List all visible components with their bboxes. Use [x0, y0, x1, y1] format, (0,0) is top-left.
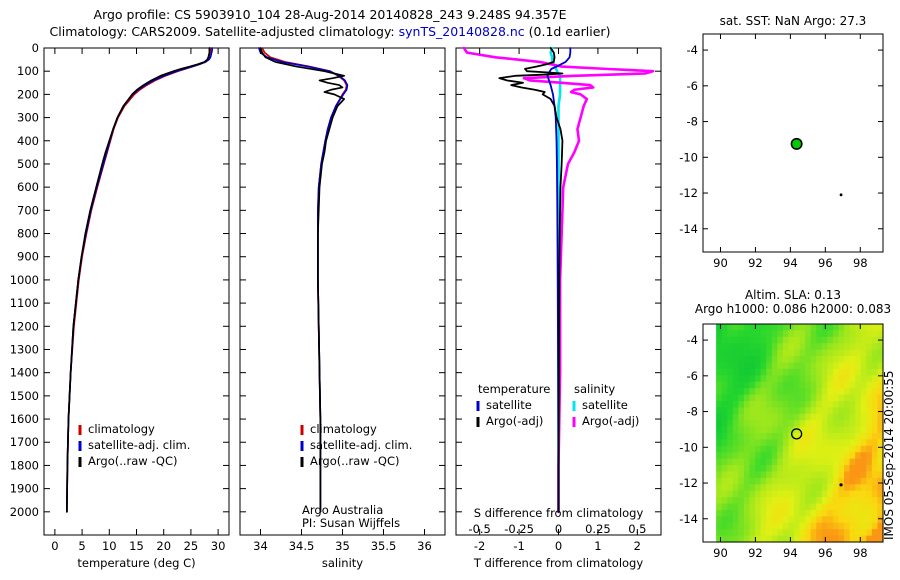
- sla-cell: [805, 478, 811, 485]
- sla-cell: [716, 330, 722, 337]
- sla-cell: [744, 375, 750, 382]
- sla-lat-tick-label: -8: [687, 405, 698, 419]
- sla-cell: [722, 324, 728, 331]
- sla-lat-tick-label: -12: [679, 476, 698, 490]
- sla-cell: [783, 362, 789, 369]
- sla-cell: [738, 337, 744, 344]
- sla-cell: [800, 497, 806, 504]
- sla-cell: [733, 478, 739, 485]
- difference-tick-label-bottom: -1: [513, 539, 524, 553]
- sla-cell: [822, 330, 828, 337]
- sla-cell: [744, 362, 750, 369]
- sla-cell: [805, 420, 811, 427]
- sla-cell: [749, 337, 755, 344]
- sla-cell: [866, 510, 872, 517]
- sla-cell: [800, 465, 806, 472]
- sla-cell: [777, 439, 783, 446]
- sla-cell: [839, 388, 845, 395]
- sla-cell: [866, 478, 872, 485]
- sla-cell: [716, 420, 722, 427]
- sla-cell: [755, 484, 761, 491]
- sla-cell: [738, 388, 744, 395]
- sla-cell: [794, 420, 800, 427]
- sla-cell: [749, 452, 755, 459]
- sla-cell: [749, 433, 755, 440]
- sla-cell: [744, 459, 750, 466]
- sla-cell: [783, 337, 789, 344]
- sla-cell: [783, 446, 789, 453]
- sla-cell: [755, 382, 761, 389]
- legend-label: satellite: [486, 398, 532, 412]
- sla-cell: [800, 350, 806, 357]
- difference-tick-label-bottom: -2: [474, 539, 485, 553]
- sla-cell: [822, 427, 828, 434]
- sla-cell: [749, 484, 755, 491]
- sla-cell: [783, 433, 789, 440]
- sla-cell: [722, 375, 728, 382]
- sla-cell: [861, 433, 867, 440]
- sla-cell: [850, 343, 856, 350]
- sla-cell: [861, 471, 867, 478]
- sla-cell: [761, 407, 767, 414]
- sla-cell: [772, 427, 778, 434]
- sla-cell: [788, 414, 794, 421]
- sla-cell: [872, 350, 878, 357]
- sla-cell: [788, 356, 794, 363]
- sla-cell: [738, 465, 744, 472]
- sla-cell: [749, 491, 755, 498]
- sla-cell: [816, 427, 822, 434]
- sla-cell: [749, 516, 755, 523]
- sla-cell: [749, 356, 755, 363]
- sla-cell: [772, 330, 778, 337]
- sla-cell: [850, 324, 856, 331]
- sla-cell: [833, 356, 839, 363]
- sla-cell: [844, 395, 850, 402]
- sla-cell: [805, 343, 811, 350]
- sla-cell: [766, 446, 772, 453]
- sla-cell: [783, 401, 789, 408]
- sla-cell: [738, 471, 744, 478]
- sla-cell: [872, 337, 878, 344]
- sla-cell: [850, 497, 856, 504]
- sla-cell: [805, 401, 811, 408]
- sla-cell: [727, 420, 733, 427]
- sla-cell: [805, 510, 811, 517]
- sla-cell: [766, 369, 772, 376]
- sla-cell: [788, 395, 794, 402]
- sla-cell: [749, 362, 755, 369]
- sla-cell: [733, 452, 739, 459]
- sla-cell: [749, 504, 755, 511]
- sla-cell: [772, 350, 778, 357]
- sla-cell: [772, 407, 778, 414]
- sla-cell: [744, 356, 750, 363]
- sla-cell: [816, 439, 822, 446]
- sla-cell: [749, 471, 755, 478]
- sla-cell: [783, 324, 789, 331]
- sla-cell: [816, 375, 822, 382]
- legend-label: climatology: [310, 422, 377, 436]
- sla-cell: [872, 510, 878, 517]
- sla-cell: [816, 350, 822, 357]
- sla-cell: [794, 395, 800, 402]
- sla-cell: [738, 395, 744, 402]
- sla-cell: [727, 465, 733, 472]
- sla-cell: [850, 388, 856, 395]
- sla-cell: [872, 504, 878, 511]
- sla-cell: [827, 337, 833, 344]
- sla-cell: [761, 337, 767, 344]
- sla-cell: [839, 427, 845, 434]
- sla-cell: [800, 446, 806, 453]
- sla-cell: [844, 516, 850, 523]
- sla-cell: [827, 478, 833, 485]
- sla-cell: [733, 356, 739, 363]
- sla-cell: [805, 439, 811, 446]
- sla-cell: [844, 369, 850, 376]
- sla-cell: [833, 395, 839, 402]
- sla-cell: [866, 356, 872, 363]
- sla-cell: [788, 478, 794, 485]
- sla-cell: [761, 369, 767, 376]
- sla-cell: [744, 446, 750, 453]
- sla-cell: [722, 529, 728, 536]
- sla-cell: [794, 382, 800, 389]
- sla-cell: [855, 427, 861, 434]
- sla-cell: [800, 395, 806, 402]
- sla-cell: [755, 401, 761, 408]
- sla-cell: [738, 516, 744, 523]
- sla-cell: [855, 395, 861, 402]
- difference-axis-label-bottom: T difference from climatology: [473, 556, 644, 570]
- depth-tick-label: 500: [17, 157, 39, 171]
- sla-cell: [839, 459, 845, 466]
- sla-cell: [727, 484, 733, 491]
- sla-cell: [766, 504, 772, 511]
- salinity-tick-label: 35: [335, 539, 350, 553]
- sla-cell: [800, 414, 806, 421]
- sla-cell: [805, 504, 811, 511]
- sla-cell: [800, 375, 806, 382]
- sla-cell: [855, 459, 861, 466]
- sla-cell: [766, 324, 772, 331]
- sla-cell: [755, 356, 761, 363]
- sla-cell: [833, 350, 839, 357]
- sla-cell: [827, 388, 833, 395]
- sla-cell: [822, 452, 828, 459]
- sla-cell: [777, 523, 783, 530]
- sla-cell: [744, 330, 750, 337]
- sla-cell: [777, 369, 783, 376]
- sla-cell: [722, 420, 728, 427]
- sla-cell: [800, 484, 806, 491]
- sla-cell: [755, 478, 761, 485]
- sla-cell: [872, 343, 878, 350]
- sla-cell: [788, 465, 794, 472]
- sla-cell: [866, 504, 872, 511]
- sla-cell: [861, 330, 867, 337]
- sla-cell: [833, 414, 839, 421]
- sla-cell: [755, 446, 761, 453]
- sla-cell: [839, 497, 845, 504]
- sla-cell: [722, 407, 728, 414]
- depth-tick-label: 300: [17, 111, 39, 125]
- panel-salinity: 3434.53535.536salinityclimatologysatelli…: [228, 40, 468, 580]
- sla-cell: [839, 350, 845, 357]
- sla-cell: [861, 484, 867, 491]
- sla-cell: [749, 497, 755, 504]
- sla-cell: [833, 375, 839, 382]
- sla-cell: [722, 356, 728, 363]
- sla-cell: [716, 337, 722, 344]
- sla-cell: [749, 439, 755, 446]
- sla-cell: [844, 407, 850, 414]
- sla-cell: [800, 491, 806, 498]
- sla-cell: [738, 504, 744, 511]
- sla-cell: [788, 484, 794, 491]
- sla-cell: [794, 459, 800, 466]
- sst-lat-tick-label: -10: [679, 150, 698, 164]
- difference-tick-label-top: 0: [555, 522, 562, 536]
- sla-cell: [822, 350, 828, 357]
- sla-cell: [827, 375, 833, 382]
- sla-cell: [783, 478, 789, 485]
- sla-cell: [839, 420, 845, 427]
- sla-cell: [811, 497, 817, 504]
- sst-map-plot: sat. SST: NaN Argo: 27.39092949698-4-6-8…: [655, 8, 900, 293]
- sla-cell: [794, 497, 800, 504]
- sla-cell: [772, 414, 778, 421]
- sla-cell: [866, 369, 872, 376]
- sla-cell: [855, 478, 861, 485]
- sla-cell: [872, 529, 878, 536]
- coastline-speck: [840, 193, 843, 196]
- sla-cell: [833, 439, 839, 446]
- sla-cell: [822, 369, 828, 376]
- sla-cell: [816, 484, 822, 491]
- sla-cell: [755, 414, 761, 421]
- sla-cell: [850, 484, 856, 491]
- sla-cell: [811, 388, 817, 395]
- sla-cell: [749, 510, 755, 517]
- sla-cell: [755, 395, 761, 402]
- sla-cell: [800, 324, 806, 331]
- sla-cell: [855, 446, 861, 453]
- sla-cell: [844, 504, 850, 511]
- sla-cell: [788, 407, 794, 414]
- sla-cell: [766, 401, 772, 408]
- sla-cell: [855, 523, 861, 530]
- sla-cell: [866, 350, 872, 357]
- sla-cell: [761, 414, 767, 421]
- sla-cell: [872, 356, 878, 363]
- sla-cell: [805, 362, 811, 369]
- sla-cell: [844, 471, 850, 478]
- sla-cell: [827, 401, 833, 408]
- sla-cell: [772, 484, 778, 491]
- sla-cell: [850, 375, 856, 382]
- sla-cell: [727, 446, 733, 453]
- sla-cell: [850, 414, 856, 421]
- sla-cell: [733, 337, 739, 344]
- sla-cell: [772, 523, 778, 530]
- sla-lat-tick-label: -14: [679, 512, 698, 526]
- sla-cell: [822, 478, 828, 485]
- sla-cell: [766, 350, 772, 357]
- sla-cell: [822, 510, 828, 517]
- sla-cell: [811, 395, 817, 402]
- sla-cell: [800, 504, 806, 511]
- sla-cell: [872, 497, 878, 504]
- sla-cell: [755, 439, 761, 446]
- sla-cell: [805, 395, 811, 402]
- sla-cell: [855, 504, 861, 511]
- sla-cell: [761, 471, 767, 478]
- sla-cell: [761, 529, 767, 536]
- sla-cell: [844, 382, 850, 389]
- difference-axis-label-top: S difference from climatology: [474, 506, 644, 520]
- sla-cell: [733, 395, 739, 402]
- sla-cell: [777, 362, 783, 369]
- sla-cell: [811, 414, 817, 421]
- sla-cell: [844, 446, 850, 453]
- sla-cell: [866, 446, 872, 453]
- sla-cell: [716, 523, 722, 530]
- sla-cell: [822, 414, 828, 421]
- sla-cell: [766, 414, 772, 421]
- sla-cell: [766, 497, 772, 504]
- sla-cell: [861, 350, 867, 357]
- sla-cell: [827, 407, 833, 414]
- sla-cell: [811, 446, 817, 453]
- sla-cell: [777, 337, 783, 344]
- sla-cell: [861, 478, 867, 485]
- sla-cell: [839, 439, 845, 446]
- sla-cell: [844, 491, 850, 498]
- sla-cell: [866, 529, 872, 536]
- sla-cell: [822, 523, 828, 530]
- salinity-tick-label: 34: [253, 539, 268, 553]
- sla-cell: [850, 504, 856, 511]
- sla-cell: [716, 350, 722, 357]
- legend-header-temperature: temperature: [478, 382, 550, 396]
- sla-cell: [861, 427, 867, 434]
- depth-tick-label: 2000: [10, 505, 39, 519]
- sla-cell: [772, 465, 778, 472]
- sla-cell: [794, 362, 800, 369]
- sla-cell: [749, 375, 755, 382]
- sla-cell: [816, 465, 822, 472]
- sla-cell: [872, 478, 878, 485]
- sla-cell: [755, 324, 761, 331]
- sla-cell: [844, 452, 850, 459]
- sla-cell: [850, 439, 856, 446]
- sla-cell: [755, 343, 761, 350]
- sla-cell: [738, 529, 744, 536]
- sla-cell: [722, 395, 728, 402]
- sla-cell: [727, 356, 733, 363]
- sla-cell: [766, 478, 772, 485]
- sla-cell: [866, 459, 872, 466]
- sla-cell: [855, 343, 861, 350]
- sla-cell: [866, 497, 872, 504]
- sla-cell: [827, 523, 833, 530]
- sla-cell: [800, 478, 806, 485]
- sla-cell: [833, 369, 839, 376]
- sla-cell: [822, 395, 828, 402]
- sla-cell: [716, 484, 722, 491]
- sla-cell: [844, 414, 850, 421]
- sla-cell: [722, 350, 728, 357]
- sla-cell: [800, 388, 806, 395]
- sla-cell: [727, 330, 733, 337]
- sla-cell: [761, 484, 767, 491]
- sla-cell: [866, 439, 872, 446]
- sla-cell: [805, 375, 811, 382]
- sla-cell: [794, 523, 800, 530]
- sla-cell: [766, 523, 772, 530]
- map-sla: Altim. SLA: 0.13Argo h1000: 0.086 h2000:…: [655, 286, 900, 576]
- sla-cell: [761, 510, 767, 517]
- sla-cell: [800, 343, 806, 350]
- sst-lat-tick-label: -6: [687, 79, 698, 93]
- sla-cell: [811, 407, 817, 414]
- sla-cell: [872, 459, 878, 466]
- sla-cell: [866, 420, 872, 427]
- sla-cell: [772, 375, 778, 382]
- sla-cell: [811, 478, 817, 485]
- sla-cell: [733, 439, 739, 446]
- sla-cell: [777, 420, 783, 427]
- sla-cell: [805, 369, 811, 376]
- sla-cell: [833, 452, 839, 459]
- sla-cell: [761, 459, 767, 466]
- sla-cell: [822, 439, 828, 446]
- difference-tick-label-top: 0.25: [585, 522, 611, 536]
- sla-cell: [783, 459, 789, 466]
- sla-cell: [755, 362, 761, 369]
- sla-cell: [872, 491, 878, 498]
- sla-cell: [777, 433, 783, 440]
- sla-cell: [805, 330, 811, 337]
- sla-cell: [761, 439, 767, 446]
- sla-cell: [777, 407, 783, 414]
- sla-lon-tick-label: 98: [853, 546, 868, 560]
- sla-cell: [766, 362, 772, 369]
- sla-cell: [855, 452, 861, 459]
- sla-cell: [738, 369, 744, 376]
- sla-cell: [761, 478, 767, 485]
- credit-organisation: Argo Australia: [302, 503, 383, 517]
- sla-cell: [827, 369, 833, 376]
- sla-cell: [850, 471, 856, 478]
- sla-cell: [844, 330, 850, 337]
- sla-cell: [727, 491, 733, 498]
- sla-cell: [727, 497, 733, 504]
- sla-cell: [827, 362, 833, 369]
- sla-cell: [727, 337, 733, 344]
- sla-cell: [772, 433, 778, 440]
- sla-cell: [805, 388, 811, 395]
- sla-cell: [777, 427, 783, 434]
- sla-cell: [772, 504, 778, 511]
- sla-cell: [716, 395, 722, 402]
- sla-cell: [811, 504, 817, 511]
- sla-cell: [722, 471, 728, 478]
- sla-cell: [716, 362, 722, 369]
- difference-tick-label-top: -0.25: [504, 522, 534, 536]
